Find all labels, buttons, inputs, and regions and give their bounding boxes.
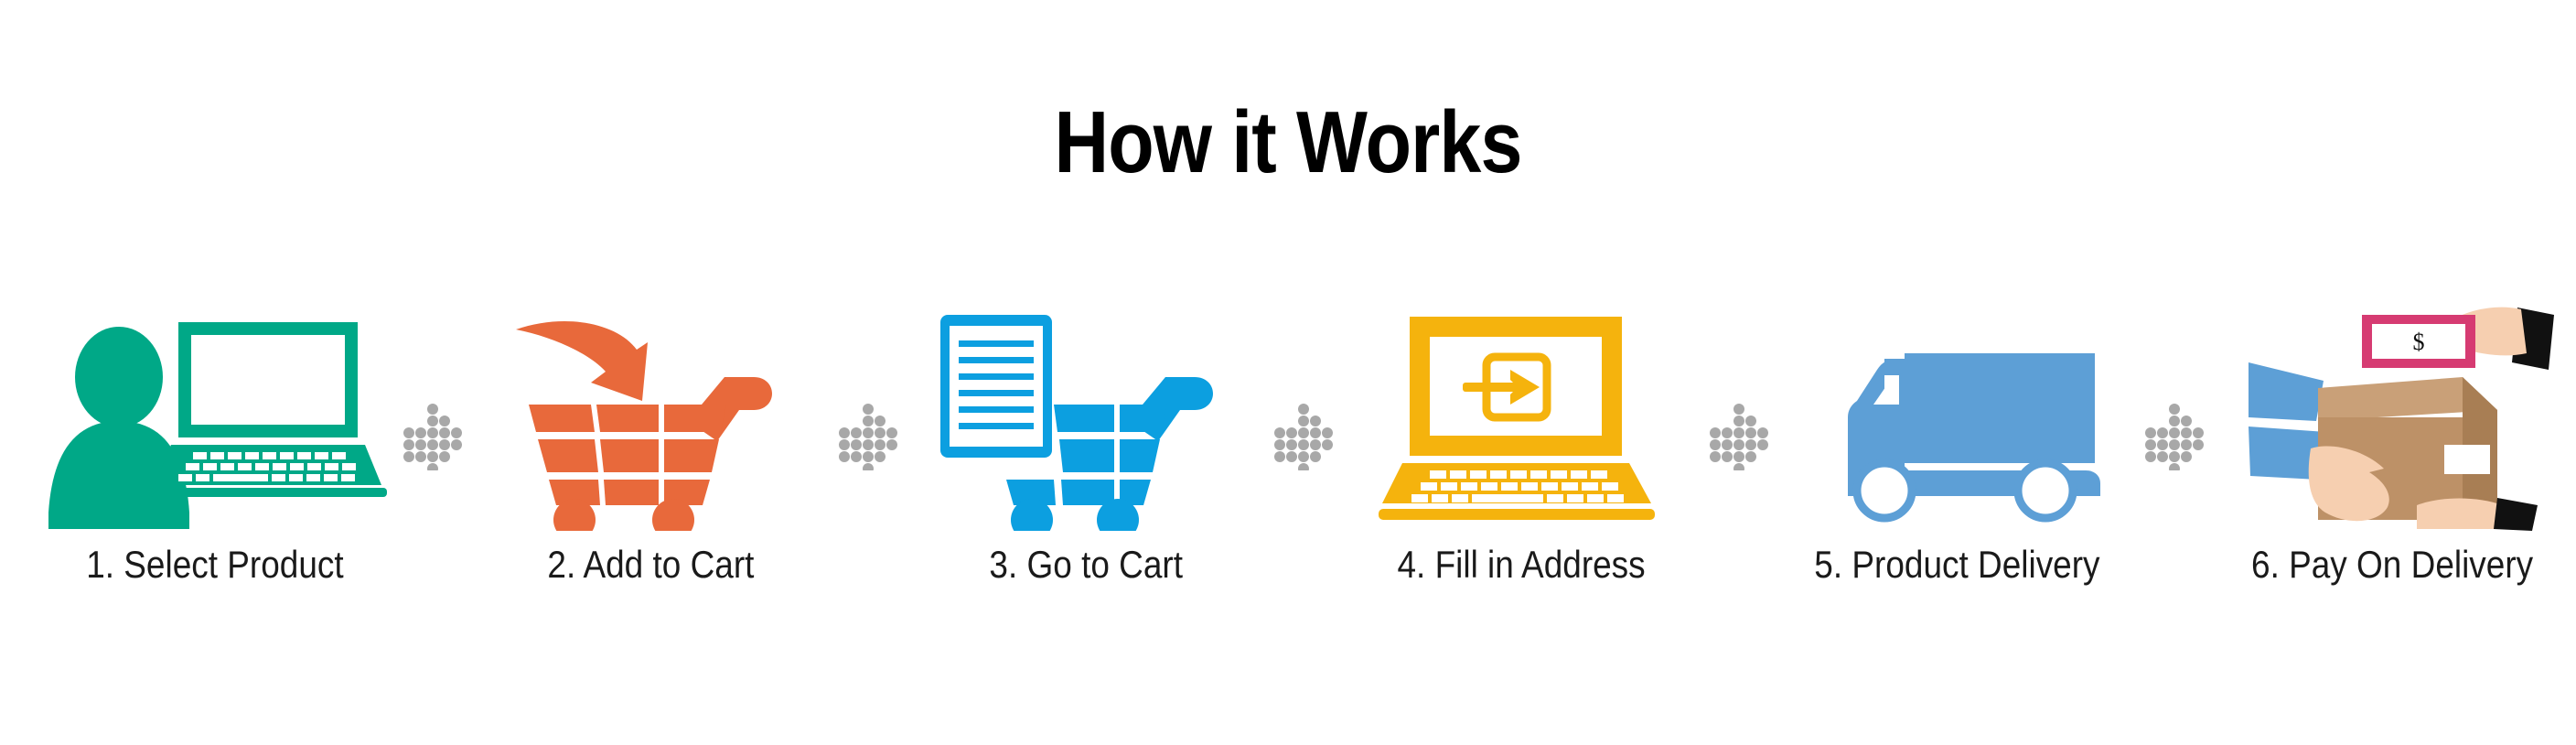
step-5-product-delivery[interactable]: 5. Product Delivery	[1778, 302, 2135, 632]
steps-row: 1. Select Product	[37, 302, 2543, 632]
step-label: 6. Pay On Delivery	[2251, 544, 2533, 586]
step-2-add-to-cart[interactable]: 2. Add to Cart	[472, 302, 829, 632]
step-1-select-product[interactable]: 1. Select Product	[37, 302, 393, 632]
step-label: 5. Product Delivery	[1814, 544, 2099, 586]
laptop-with-login-arrow-icon	[1343, 302, 1700, 531]
money-symbol: $	[2413, 329, 2425, 355]
step-label: 4. Fill in Address	[1397, 544, 1645, 586]
hands-exchanging-box-and-money-icon: $	[2214, 302, 2571, 531]
step-6-pay-on-delivery[interactable]: $	[2214, 302, 2571, 632]
dotted-arrow-right-icon	[2135, 302, 2214, 632]
step-label: 1. Select Product	[86, 544, 343, 586]
step-4-fill-in-address[interactable]: 4. Fill in Address	[1343, 302, 1700, 632]
step-label: 2. Add to Cart	[547, 544, 754, 586]
how-it-works-infographic: How it Works	[0, 0, 2576, 745]
dotted-arrow-right-icon	[1700, 302, 1778, 632]
dotted-arrow-right-icon	[1264, 302, 1343, 632]
step-3-go-to-cart[interactable]: 3. Go to Cart	[907, 302, 1264, 632]
cart-with-arrow-icon	[472, 302, 829, 531]
person-with-laptop-icon	[37, 302, 393, 531]
step-label: 3. Go to Cart	[989, 544, 1183, 586]
dotted-arrow-right-icon	[393, 302, 472, 632]
cart-with-invoice-icon	[907, 302, 1264, 531]
delivery-truck-icon	[1778, 302, 2135, 531]
page-title: How it Works	[180, 99, 2396, 187]
dotted-arrow-right-icon	[829, 302, 907, 632]
